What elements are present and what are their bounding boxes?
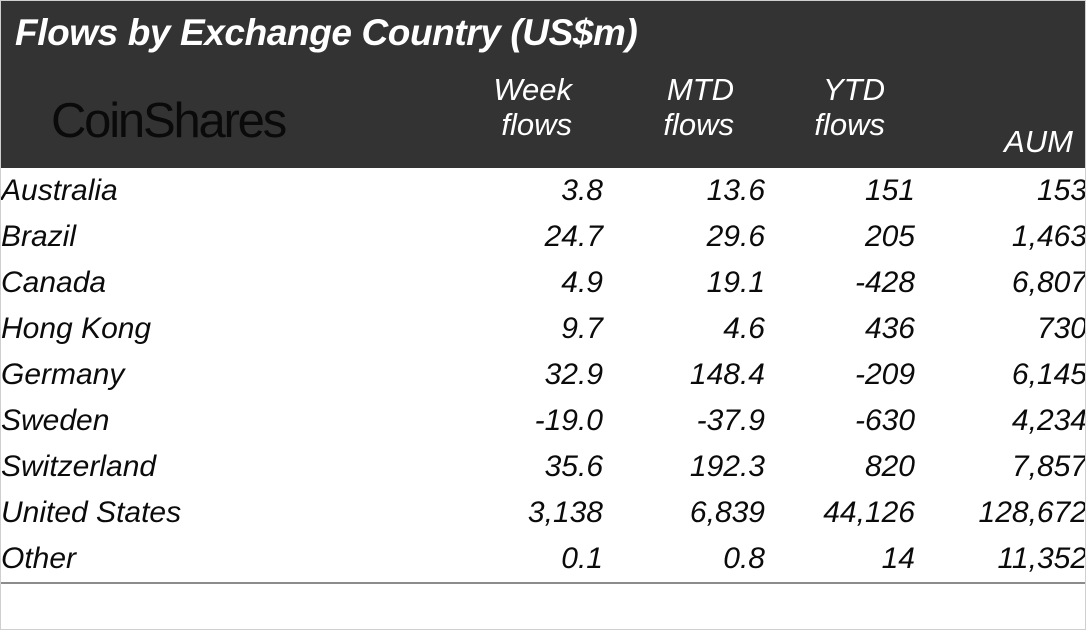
total-separator: [1, 583, 1086, 630]
page-title: Flows by Exchange Country (US$m): [15, 13, 637, 54]
cell-aum: 128,672: [915, 490, 1086, 536]
total-divider: [1, 583, 1086, 630]
cell-aum: 730: [915, 306, 1086, 352]
cell-aum: 6,807: [915, 260, 1086, 306]
cell-mtd-flows: 192.3: [603, 444, 765, 490]
table-row: Other 0.1 0.8 14 11,352: [1, 536, 1086, 583]
cell-ytd-flows: -209: [765, 352, 915, 398]
cell-week-flows: 4.9: [441, 260, 603, 306]
cell-mtd-flows: 0.8: [603, 536, 765, 583]
cell-week-flows: 3.8: [441, 168, 603, 214]
cell-country: Hong Kong: [1, 306, 441, 352]
cell-country: Australia: [1, 168, 441, 214]
column-header-ytd-line1: YTD: [814, 73, 885, 108]
cell-mtd-flows: 6,839: [603, 490, 765, 536]
cell-country: Germany: [1, 352, 441, 398]
flows-table-body: Australia 3.8 13.6 151 153 Brazil 24.7 2…: [1, 168, 1086, 630]
cell-ytd-flows: -630: [765, 398, 915, 444]
cell-mtd-flows: 4.6: [603, 306, 765, 352]
cell-aum: 6,145: [915, 352, 1086, 398]
table-row: Germany 32.9 148.4 -209 6,145: [1, 352, 1086, 398]
cell-ytd-flows: 820: [765, 444, 915, 490]
column-header-week-flows: Week flows: [493, 73, 572, 142]
cell-country: Canada: [1, 260, 441, 306]
cell-aum: 11,352: [915, 536, 1086, 583]
flows-by-exchange-country-table: Flows by Exchange Country (US$m) CoinSha…: [0, 0, 1086, 630]
cell-country: Sweden: [1, 398, 441, 444]
cell-ytd-flows: 436: [765, 306, 915, 352]
cell-ytd-flows: -428: [765, 260, 915, 306]
column-header-aum: AUM: [1004, 125, 1073, 160]
cell-week-flows: 32.9: [441, 352, 603, 398]
cell-mtd-flows: 148.4: [603, 352, 765, 398]
cell-week-flows: 0.1: [441, 536, 603, 583]
cell-mtd-flows: 19.1: [603, 260, 765, 306]
table-row: Switzerland 35.6 192.3 820 7,857: [1, 444, 1086, 490]
table-row: Brazil 24.7 29.6 205 1,463: [1, 214, 1086, 260]
table-row: Sweden -19.0 -37.9 -630 4,234: [1, 398, 1086, 444]
cell-country: United States: [1, 490, 441, 536]
cell-week-flows: 35.6: [441, 444, 603, 490]
column-header-week-line2: flows: [493, 108, 572, 143]
table-row: Australia 3.8 13.6 151 153: [1, 168, 1086, 214]
column-header-mtd-line1: MTD: [663, 73, 734, 108]
cell-aum: 153: [915, 168, 1086, 214]
cell-mtd-flows: -37.9: [603, 398, 765, 444]
cell-ytd-flows: 44,126: [765, 490, 915, 536]
cell-country: Brazil: [1, 214, 441, 260]
column-header-ytd-flows: YTD flows: [814, 73, 885, 142]
cell-mtd-flows: 29.6: [603, 214, 765, 260]
cell-ytd-flows: 14: [765, 536, 915, 583]
table-row: Hong Kong 9.7 4.6 436 730: [1, 306, 1086, 352]
column-header-mtd-line2: flows: [663, 108, 734, 143]
column-header-aum-label: AUM: [1004, 125, 1073, 160]
column-header-ytd-line2: flows: [814, 108, 885, 143]
cell-aum: 4,234: [915, 398, 1086, 444]
cell-week-flows: -19.0: [441, 398, 603, 444]
cell-ytd-flows: 205: [765, 214, 915, 260]
cell-aum: 7,857: [915, 444, 1086, 490]
cell-aum: 1,463: [915, 214, 1086, 260]
column-header-mtd-flows: MTD flows: [663, 73, 734, 142]
cell-week-flows: 24.7: [441, 214, 603, 260]
cell-country: Other: [1, 536, 441, 583]
table-row: Canada 4.9 19.1 -428 6,807: [1, 260, 1086, 306]
column-header-week-line1: Week: [493, 73, 572, 108]
cell-ytd-flows: 151: [765, 168, 915, 214]
table-row: United States 3,138 6,839 44,126 128,672: [1, 490, 1086, 536]
table-header-band: Flows by Exchange Country (US$m) CoinSha…: [1, 1, 1085, 168]
cell-mtd-flows: 13.6: [603, 168, 765, 214]
cell-week-flows: 3,138: [441, 490, 603, 536]
cell-week-flows: 9.7: [441, 306, 603, 352]
coinshares-logo: CoinShares: [51, 97, 285, 146]
flows-table: Australia 3.8 13.6 151 153 Brazil 24.7 2…: [1, 168, 1086, 630]
cell-country: Switzerland: [1, 444, 441, 490]
